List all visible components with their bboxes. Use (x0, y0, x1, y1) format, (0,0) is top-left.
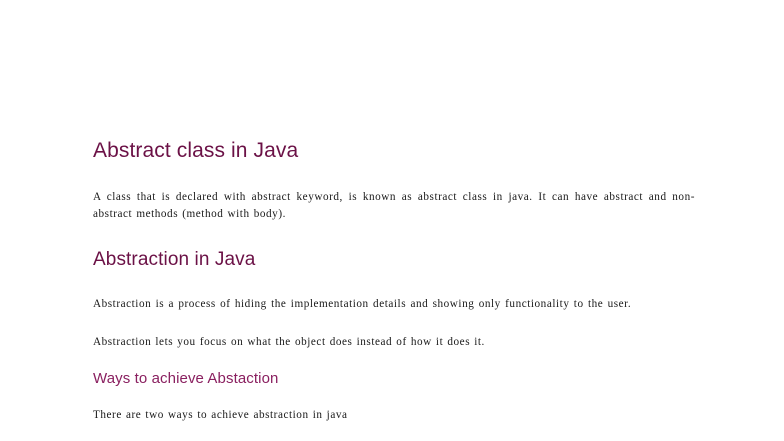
document-content-column: Abstract class in Java A class that is d… (93, 139, 695, 424)
paragraph-abstraction-focus: Abstraction lets you focus on what the o… (93, 334, 695, 351)
subsection-heading-ways-to-achieve-abstraction: Ways to achieve Abstaction (93, 370, 695, 387)
spacer (93, 163, 695, 189)
section-heading-abstraction-in-java: Abstraction in Java (93, 249, 695, 270)
document-page: Abstract class in Java A class that is d… (0, 0, 784, 441)
spacer (93, 387, 695, 407)
spacer (93, 313, 695, 334)
page-title: Abstract class in Java (93, 139, 695, 163)
spacer (93, 223, 695, 249)
spacer (93, 270, 695, 296)
paragraph-two-ways-intro: There are two ways to achieve abstractio… (93, 407, 695, 424)
paragraph-abstract-class-definition: A class that is declared with abstract k… (93, 189, 695, 223)
spacer (93, 351, 695, 370)
paragraph-abstraction-definition: Abstraction is a process of hiding the i… (93, 296, 695, 313)
